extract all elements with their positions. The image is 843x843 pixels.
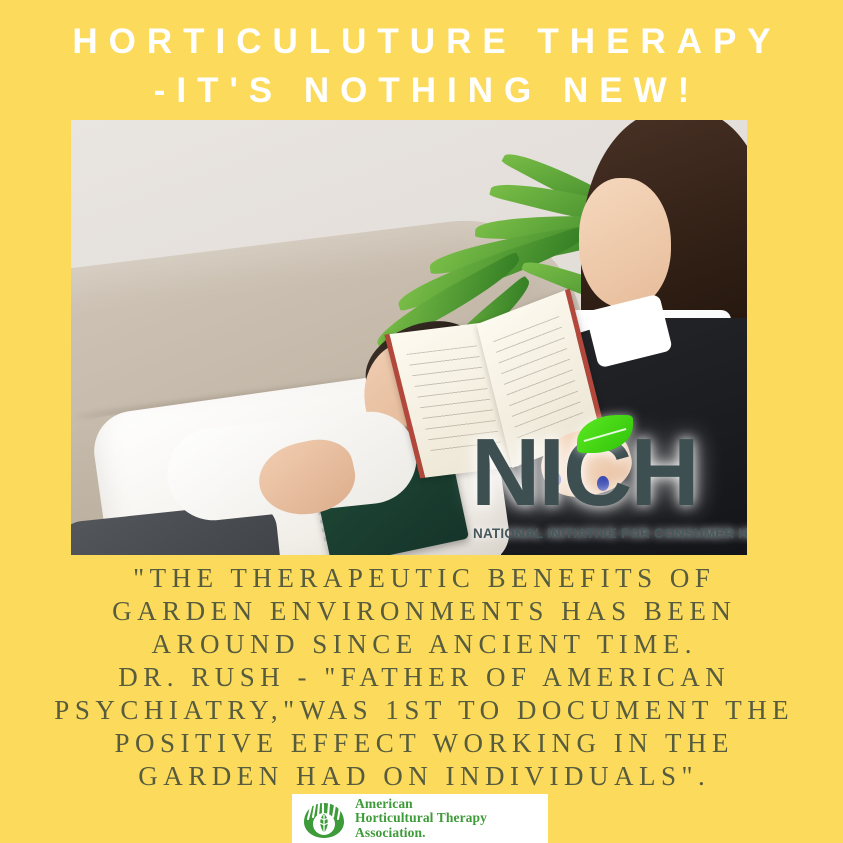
quote-line: AROUND SINCE ANCIENT TIME.	[0, 628, 843, 661]
ahta-hands-leaf-icon	[302, 799, 346, 839]
poster-title: HORTICULUTURE THERAPY -IT'S NOTHING NEW!	[0, 17, 843, 115]
ahta-line-1: American	[355, 797, 487, 811]
quote-line: POSITIVE EFFECT WORKING IN THE	[0, 727, 843, 760]
quote-block: "THE THERAPEUTIC BENEFITS OF GARDEN ENVI…	[0, 562, 843, 793]
ahta-line-3: Association.	[355, 826, 487, 840]
therapist-face	[579, 178, 671, 308]
quote-line: PSYCHIATRY,"WAS 1ST TO DOCUMENT THE	[0, 694, 843, 727]
quote-line: "THE THERAPEUTIC BENEFITS OF	[0, 562, 843, 595]
quote-line: DR. RUSH - "FATHER OF AMERICAN	[0, 661, 843, 694]
ahta-logo: American Horticultural Therapy Associati…	[292, 794, 548, 843]
ahta-line-2: Horticultural Therapy	[355, 811, 487, 825]
hero-photo: NICH NATIONAL INITIATIVE FOR CONSUMER HO…	[71, 120, 747, 555]
nich-tagline: NATIONAL INITIATIVE FOR CONSUMER HORTICU…	[473, 526, 747, 541]
title-line-1: HORTICULUTURE THERAPY	[0, 17, 843, 66]
quote-line: GARDEN ENVIRONMENTS HAS BEEN	[0, 595, 843, 628]
ahta-wordmark: American Horticultural Therapy Associati…	[355, 797, 487, 840]
poster-canvas: HORTICULUTURE THERAPY -IT'S NOTHING NEW!	[0, 0, 843, 843]
quote-line: GARDEN HAD ON INDIVIDUALS".	[0, 760, 843, 793]
title-line-2: -IT'S NOTHING NEW!	[0, 66, 843, 115]
nich-logo: NICH NATIONAL INITIATIVE FOR CONSUMER HO…	[471, 404, 747, 549]
